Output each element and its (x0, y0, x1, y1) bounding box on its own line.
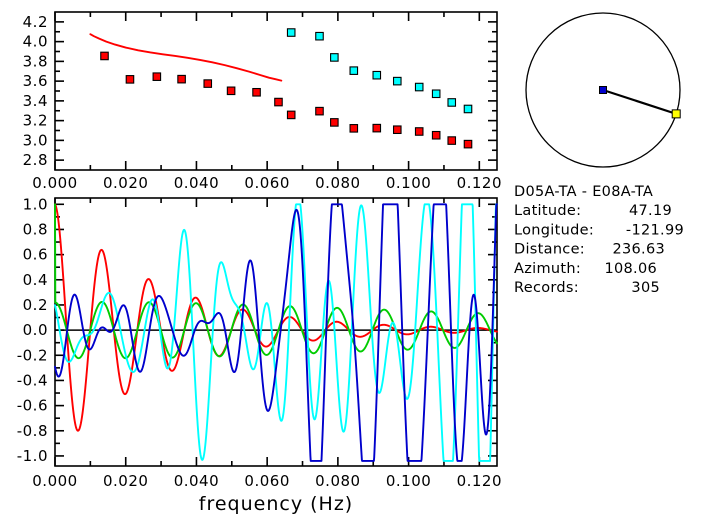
azimuth-value: 108.06 (604, 261, 657, 277)
data-marker (331, 119, 339, 127)
y-tick-label: 0.6 (23, 246, 48, 264)
azimuth-circle-inset (526, 13, 680, 167)
y-tick-label: 0.2 (23, 296, 48, 314)
y-tick-label: -0.4 (17, 371, 48, 389)
longitude-value: -121.99 (626, 222, 684, 238)
x-tick-label: 0.120 (457, 174, 502, 192)
x-axis-label: frequency (Hz) (199, 493, 353, 515)
x-tick-label: 0.120 (457, 472, 502, 490)
figure-canvas: 2.83.03.23.43.63.84.04.20.0000.0200.0400… (0, 0, 702, 519)
y-tick-label: 3.2 (23, 112, 48, 130)
y-tick-label: 0.4 (23, 271, 48, 289)
data-marker (350, 125, 358, 133)
data-marker (227, 87, 235, 95)
y-tick-label: 1.0 (23, 195, 48, 213)
plot-svg: 2.83.03.23.43.63.84.04.20.0000.0200.0400… (0, 0, 702, 519)
data-marker (287, 111, 295, 119)
data-marker (253, 89, 261, 97)
data-marker (464, 105, 472, 113)
x-tick-label: 0.000 (32, 174, 77, 192)
x-tick-label: 0.020 (103, 472, 148, 490)
series-measured-red-branch (101, 52, 472, 148)
data-marker (287, 29, 295, 37)
x-tick-label: 0.100 (386, 174, 431, 192)
series-measured-cyan-branch (287, 29, 471, 113)
x-tick-label: 0.100 (386, 472, 431, 490)
y-tick-label: 4.2 (23, 13, 48, 31)
data-marker (350, 67, 358, 75)
data-marker (432, 90, 440, 98)
x-tick-label: 0.040 (174, 174, 219, 192)
x-tick-label: 0.000 (32, 472, 77, 490)
data-marker (331, 54, 339, 62)
data-marker (448, 137, 456, 145)
x-tick-label: 0.020 (103, 174, 148, 192)
distance-label: Distance: (514, 242, 585, 258)
data-marker (373, 124, 381, 132)
x-tick-label: 0.060 (244, 174, 289, 192)
y-tick-label: -0.2 (17, 346, 48, 364)
longitude-label: Longitude: (514, 222, 594, 238)
series-reference-curve (90, 34, 281, 80)
data-marker (415, 83, 423, 91)
data-marker (373, 71, 381, 79)
data-marker (448, 99, 456, 107)
data-marker (316, 32, 324, 40)
spectra-plot: -1.0-0.8-0.6-0.4-0.20.00.20.40.60.81.00.… (17, 195, 502, 515)
y-tick-label: 2.8 (23, 151, 48, 169)
y-tick-label: -0.8 (17, 422, 48, 440)
dispersion-plot-frame (55, 12, 497, 170)
records-value: 305 (631, 280, 660, 296)
data-marker (204, 80, 212, 88)
data-marker (394, 77, 402, 85)
data-marker (101, 52, 109, 60)
x-tick-label: 0.080 (315, 472, 360, 490)
x-tick-label: 0.060 (244, 472, 289, 490)
x-tick-label: 0.040 (174, 472, 219, 490)
data-marker (275, 98, 283, 106)
data-marker (153, 73, 161, 81)
station-pair-label: D05A-TA - E08A-TA (514, 184, 653, 200)
center-station-marker (600, 87, 607, 94)
data-marker (464, 140, 472, 148)
y-tick-label: -1.0 (17, 447, 48, 465)
series-stack-cyan (55, 204, 497, 461)
distance-value: 236.63 (612, 242, 665, 258)
x-tick-label: 0.080 (315, 174, 360, 192)
data-marker (316, 107, 324, 115)
y-tick-label: -0.6 (17, 397, 48, 415)
y-tick-label: 0.0 (23, 321, 48, 339)
records-label: Records: (514, 280, 579, 296)
y-tick-label: 3.6 (23, 72, 48, 90)
azimuth-label: Azimuth: (514, 261, 581, 277)
y-tick-label: 4.0 (23, 33, 48, 51)
data-marker (415, 128, 423, 136)
remote-station-marker (672, 110, 680, 118)
y-tick-label: 3.8 (23, 52, 48, 70)
dispersion-plot: 2.83.03.23.43.63.84.04.20.0000.0200.0400… (23, 12, 502, 192)
latitude-label: Latitude: (514, 203, 581, 219)
y-tick-label: 0.8 (23, 220, 48, 238)
data-marker (432, 131, 440, 139)
azimuth-ray (603, 90, 676, 114)
info-panel: D05A-TA - E08A-TALatitude:47.19Longitude… (514, 184, 684, 296)
data-marker (394, 126, 402, 133)
latitude-value: 47.19 (629, 203, 672, 219)
data-marker (178, 75, 186, 83)
series-bessel-red (55, 204, 497, 430)
y-tick-label: 3.0 (23, 131, 48, 149)
data-marker (126, 76, 133, 84)
y-tick-label: 3.4 (23, 92, 48, 110)
